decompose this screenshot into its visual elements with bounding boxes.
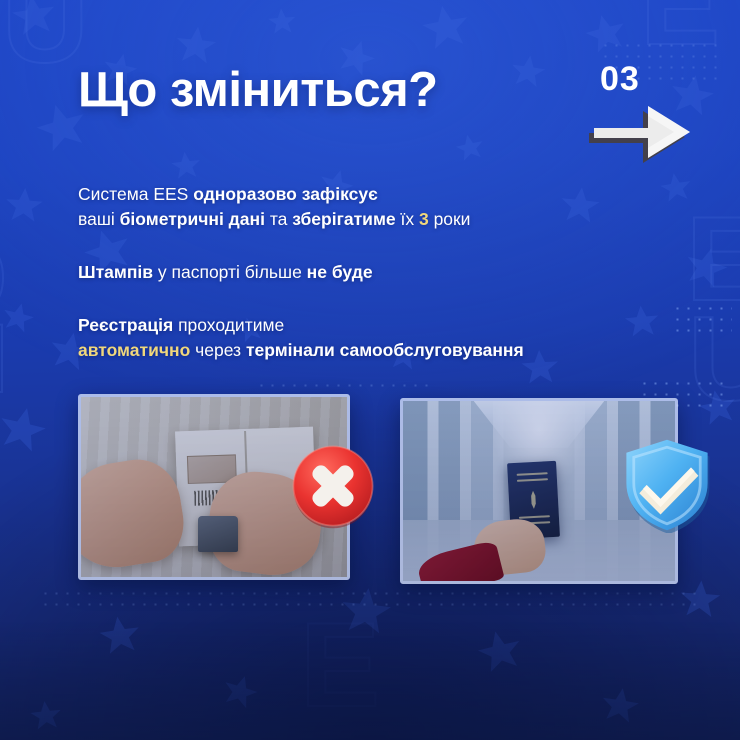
- bottom-gradient-strip: [0, 622, 740, 740]
- step-badge: 03: [582, 60, 712, 170]
- p3-l2-t3: термінали самообслуговування: [246, 340, 524, 360]
- paragraph-1: Система EES одноразово зафіксує ваші біо…: [78, 182, 653, 232]
- svg-text:U: U: [688, 292, 740, 426]
- body-copy: Система EES одноразово зафіксує ваші біо…: [78, 182, 653, 363]
- p1-l2-t2: біометричні дані: [120, 209, 265, 229]
- paragraph-2: Штампів у паспорті більше не буде: [78, 260, 653, 285]
- p1-l2-t4: зберігатиме: [292, 209, 395, 229]
- svg-text:E: E: [686, 192, 740, 326]
- p3-l1-t2: проходитиме: [173, 315, 284, 335]
- dot-grid-decor-bottom: [40, 588, 700, 610]
- p1-l2-t7: роки: [429, 209, 471, 229]
- p2-l1-t2: у паспорті більше: [153, 262, 307, 282]
- p2-l1-t3: не буде: [307, 262, 373, 282]
- svg-text:EU: EU: [0, 233, 28, 400]
- p1-years-value: 3: [419, 209, 429, 229]
- p1-l1-t1: Система EES: [78, 184, 193, 204]
- p1-l2-t3: та: [265, 209, 292, 229]
- arrow-right-3d-icon: [586, 92, 706, 170]
- p1-l2-t5: їх: [396, 209, 419, 229]
- cross-badge-icon: [288, 441, 378, 531]
- svg-text:E: E: [300, 598, 380, 732]
- p3-l1-t1: Реєстрація: [78, 315, 173, 335]
- slide-canvas: U E EU E U E Що зміниться? 03 Система EE…: [0, 0, 740, 740]
- dot-grid-decor-mid: [256, 380, 436, 394]
- shield-check-badge-icon: [620, 437, 714, 533]
- p3-l2-t2: через: [190, 340, 246, 360]
- dot-grid-decor-right-upper: [672, 303, 732, 339]
- p3-highlight-auto: автоматично: [78, 340, 190, 360]
- paragraph-3: Реєстрація проходитиме автоматично через…: [78, 313, 653, 363]
- svg-text:U: U: [2, 0, 89, 88]
- p2-l1-t1: Штампів: [78, 262, 153, 282]
- p1-l2-t1: ваші: [78, 209, 120, 229]
- p1-l1-t2: одноразово зафіксує: [193, 184, 378, 204]
